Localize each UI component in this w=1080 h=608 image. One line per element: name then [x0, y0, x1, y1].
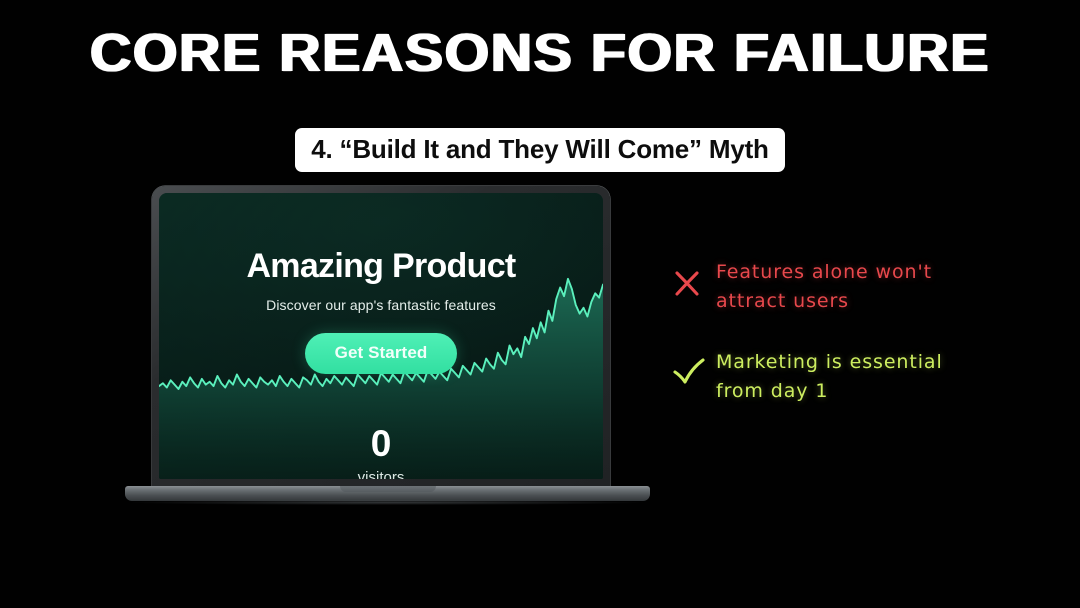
- slide-subtitle-badge: 4. “Build It and They Will Come” Myth: [295, 128, 785, 172]
- laptop-mockup: Amazing Product Discover our app's fanta…: [125, 186, 650, 516]
- annotation-negative: Features alone won't attract users: [672, 258, 1072, 316]
- product-title: Amazing Product: [159, 247, 603, 286]
- product-subtitle: Discover our app's fantastic features: [159, 297, 603, 313]
- visitor-count-label: visitors: [159, 469, 603, 479]
- laptop-screen: Amazing Product Discover our app's fanta…: [159, 193, 603, 479]
- annotation-list: Features alone won't attract users Marke…: [672, 258, 1072, 438]
- check-mark-icon: [672, 348, 716, 393]
- subtitle-container: 4. “Build It and They Will Come” Myth: [0, 128, 1080, 172]
- laptop-base-notch: [340, 486, 436, 492]
- cross-mark-icon: [672, 258, 716, 303]
- slide-headline: CORE REASONS FOR FAILURE: [0, 22, 1080, 84]
- cta-container: Get Started: [159, 333, 603, 374]
- get-started-button[interactable]: Get Started: [305, 333, 458, 374]
- laptop-base-shadow: [131, 500, 644, 505]
- annotation-positive: Marketing is essential from day 1: [672, 348, 1072, 406]
- laptop-lid: Amazing Product Discover our app's fanta…: [152, 186, 610, 489]
- app-screen-content: Amazing Product Discover our app's fanta…: [159, 193, 603, 479]
- annotation-positive-text: Marketing is essential from day 1: [716, 348, 943, 406]
- annotation-negative-text: Features alone won't attract users: [716, 258, 932, 316]
- visitor-count-value: 0: [159, 425, 603, 463]
